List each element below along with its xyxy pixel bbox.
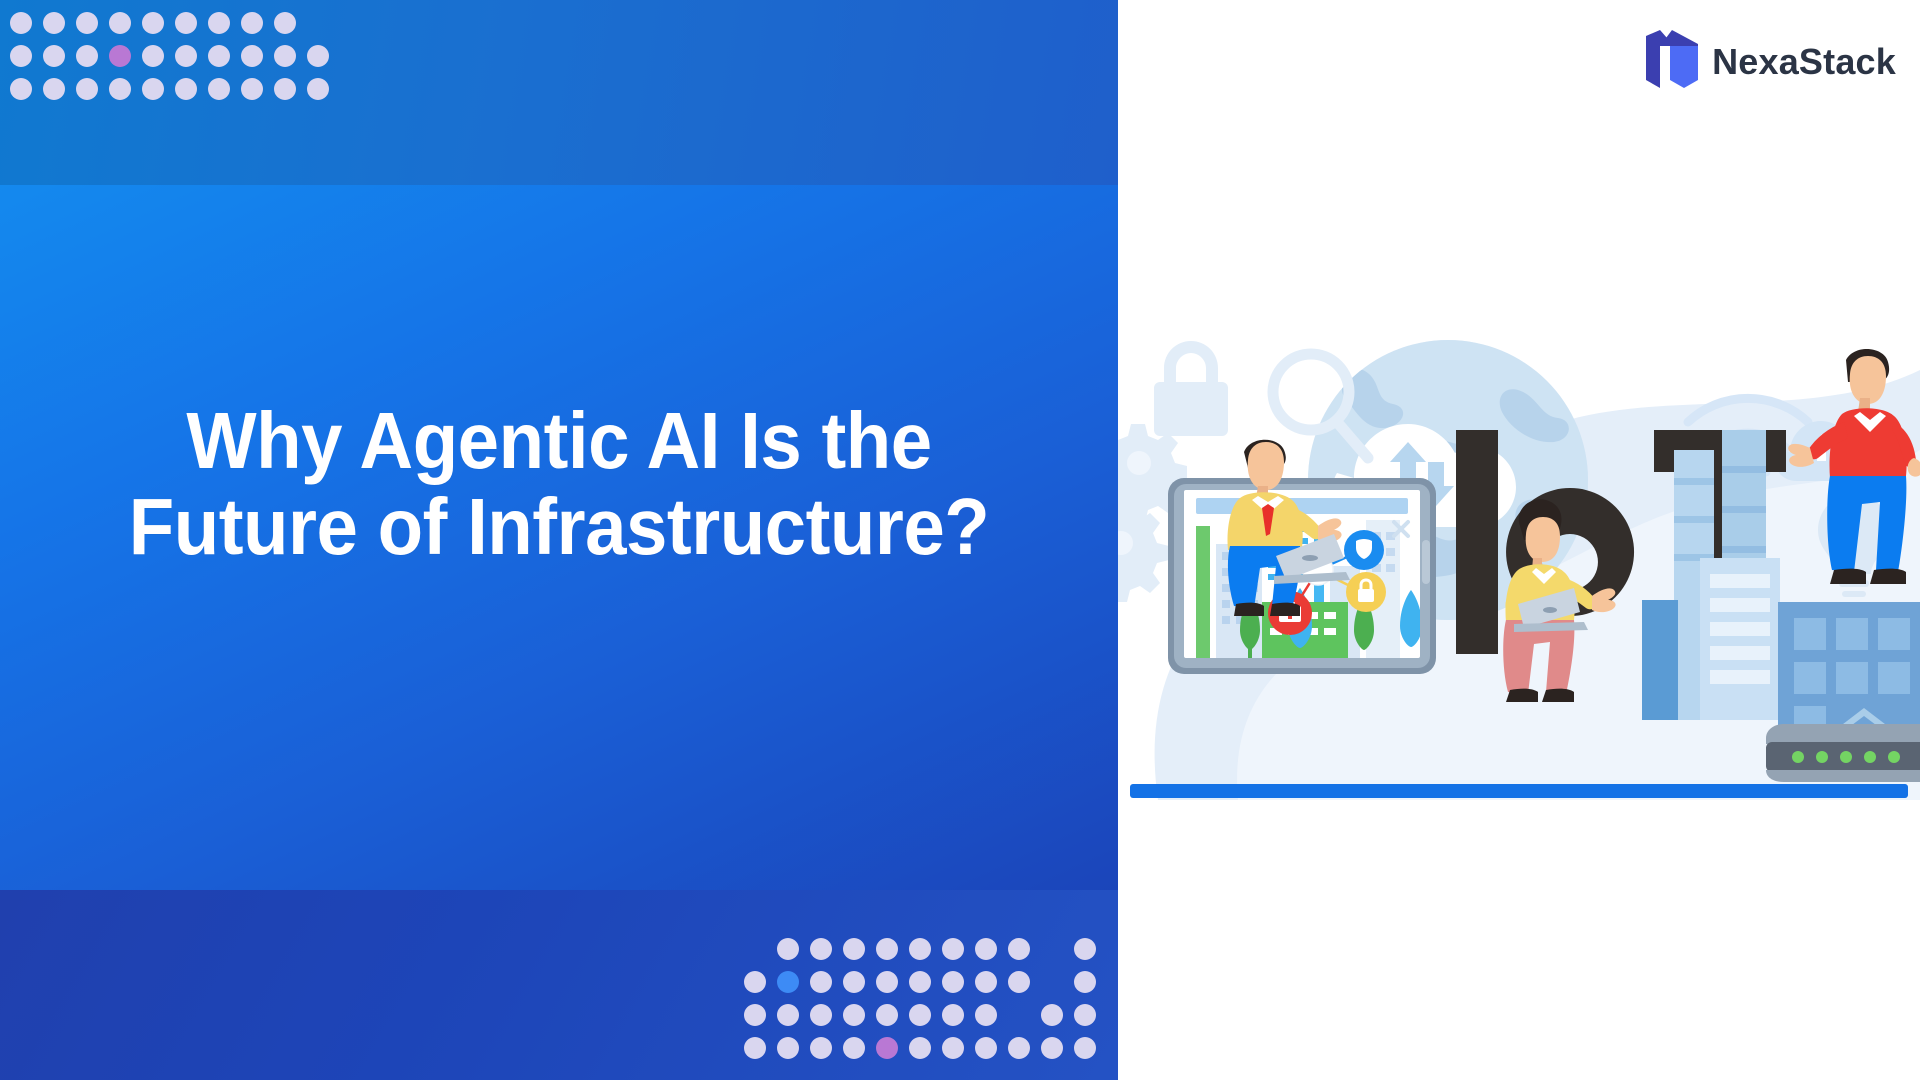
decor-dot	[843, 1004, 865, 1026]
decor-dot	[777, 1004, 799, 1026]
page-title: Why Agentic AI Is the Future of Infrastr…	[39, 398, 1079, 571]
decor-dot	[942, 971, 964, 993]
decor-dot	[274, 45, 296, 67]
decor-dot	[1041, 938, 1063, 960]
decor-dot	[307, 12, 329, 34]
decor-dot	[1074, 1037, 1096, 1059]
hero-left-panel: Why Agentic AI Is the Future of Infrastr…	[0, 0, 1118, 1080]
decor-dot	[109, 78, 131, 100]
decor-dot-grid-bottom-right	[744, 938, 1107, 1070]
decor-dot	[274, 78, 296, 100]
decor-dot	[10, 12, 32, 34]
decor-dot	[1041, 1037, 1063, 1059]
decor-dot	[843, 1037, 865, 1059]
decor-dot	[810, 938, 832, 960]
decor-dot	[744, 1037, 766, 1059]
decor-dot	[241, 45, 263, 67]
decor-dot	[208, 78, 230, 100]
decor-dot	[1074, 938, 1096, 960]
decor-dot	[1041, 971, 1063, 993]
illustration-baseline-bar	[1130, 784, 1908, 798]
decor-dot	[208, 45, 230, 67]
decor-dot	[975, 1037, 997, 1059]
decor-dot	[876, 938, 898, 960]
decor-dot	[307, 78, 329, 100]
decor-dot	[810, 971, 832, 993]
decor-dot	[942, 1037, 964, 1059]
decor-dot-grid-top-left	[10, 12, 340, 111]
node-shield-icon	[1344, 530, 1384, 570]
brand-name: NexaStack	[1712, 41, 1896, 83]
decor-dot	[942, 938, 964, 960]
decor-dot	[1008, 1004, 1030, 1026]
decor-dot	[43, 78, 65, 100]
node-lock-icon	[1346, 572, 1386, 612]
decor-dot	[942, 1004, 964, 1026]
nexastack-logo-icon	[1646, 30, 1698, 93]
decor-dot	[810, 1037, 832, 1059]
decor-dot	[744, 1004, 766, 1026]
decor-dot	[241, 78, 263, 100]
decor-dot	[909, 1004, 931, 1026]
decor-dot	[810, 1004, 832, 1026]
decor-dot	[876, 1037, 898, 1059]
decor-dot	[1041, 1004, 1063, 1026]
padlock-outline-icon	[1154, 341, 1228, 436]
decor-dot	[76, 45, 98, 67]
decor-dot	[175, 45, 197, 67]
decor-dot	[1008, 938, 1030, 960]
decor-dot	[43, 45, 65, 67]
decor-dot	[142, 45, 164, 67]
decor-dot	[142, 78, 164, 100]
decor-dot	[876, 1004, 898, 1026]
decor-dot	[10, 78, 32, 100]
decor-dot	[843, 971, 865, 993]
decor-dot	[109, 12, 131, 34]
decor-dot	[744, 938, 766, 960]
decor-dot	[1008, 971, 1030, 993]
decor-dot	[975, 1004, 997, 1026]
decor-dot	[744, 971, 766, 993]
decor-dot	[975, 971, 997, 993]
decor-dot	[975, 938, 997, 960]
decor-dot	[43, 12, 65, 34]
iot-concept-illustration	[1118, 330, 1920, 800]
decor-dot	[1074, 971, 1096, 993]
decor-dot	[109, 45, 131, 67]
decor-dot	[208, 12, 230, 34]
decor-dot	[1074, 1004, 1096, 1026]
decor-dot	[1008, 1037, 1030, 1059]
decor-dot	[777, 971, 799, 993]
decor-dot	[10, 45, 32, 67]
decor-dot	[909, 1037, 931, 1059]
decor-dot	[876, 971, 898, 993]
decor-dot	[76, 12, 98, 34]
decor-dot	[76, 78, 98, 100]
brand-logo[interactable]: NexaStack	[1646, 30, 1896, 93]
decor-dot	[175, 12, 197, 34]
poster-canvas: Why Agentic AI Is the Future of Infrastr…	[0, 0, 1920, 1080]
decor-dot	[175, 78, 197, 100]
decor-dot	[241, 12, 263, 34]
decor-dot	[274, 12, 296, 34]
decor-dot	[777, 1037, 799, 1059]
decor-dot	[843, 938, 865, 960]
decor-dot	[909, 938, 931, 960]
decor-dot	[777, 938, 799, 960]
decor-dot	[307, 45, 329, 67]
decor-dot	[909, 971, 931, 993]
decor-dot	[142, 12, 164, 34]
